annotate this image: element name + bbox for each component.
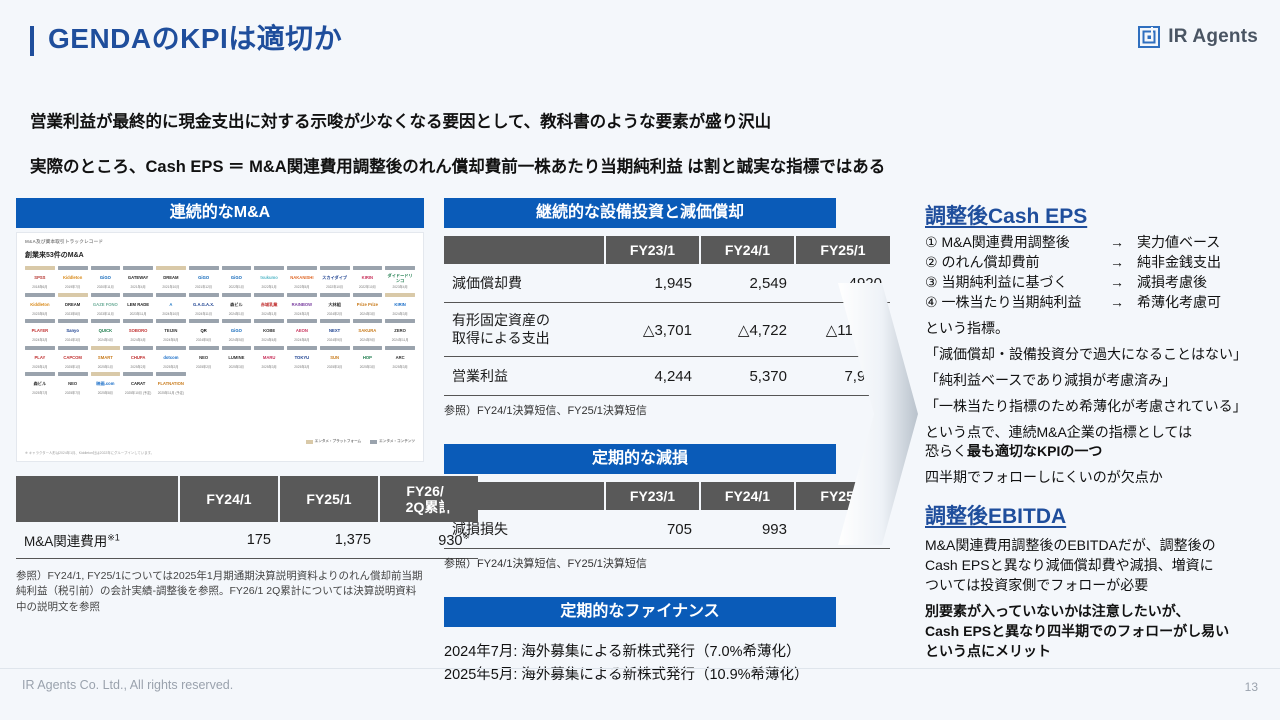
- ma-logo-tag: [25, 372, 55, 376]
- ma-logo-date: 2021年12月: [189, 286, 219, 290]
- ma-logo-cell: 赤城乳業2024年1月: [254, 293, 284, 317]
- ma-logo-date: 2025年7月: [25, 392, 55, 396]
- ma-logo-tag: [222, 319, 252, 323]
- ma-logo-cell: SUN2025年3月: [320, 346, 350, 370]
- legend-label-2: エンタメ・コンテンツ: [379, 439, 415, 444]
- ma-logo-cell: 映画.com2025年8月: [91, 372, 121, 396]
- ma-logo-cell: HOP2025年3月: [353, 346, 383, 370]
- ma-logo-cell: 大林組2024年2月: [320, 293, 350, 317]
- ma-logo-tag: [353, 266, 383, 270]
- ma-logo-cell: LUMINE2025年3月: [222, 346, 252, 370]
- ma-logo-cell: G.A.G.A.X.2024年11月: [189, 293, 219, 317]
- kpi-item-value: 純非金銭支出: [1137, 253, 1270, 273]
- ma-logo-date: 2024年5月: [189, 339, 219, 343]
- ma-logo-date: 2024年9月: [353, 339, 383, 343]
- ma-logo-mark: LEM RADE: [123, 299, 153, 312]
- ma-logo-date: 2024年5月: [222, 339, 252, 343]
- row-label: 減価償却費: [444, 264, 605, 303]
- ma-logo-date: 2025年11月 (予定): [156, 392, 186, 396]
- ma-logo-tag: [156, 266, 186, 270]
- ma-logo-mark: Prize Prize: [353, 299, 383, 312]
- ma-logo-cell: SAKURA2024年9月: [353, 319, 383, 343]
- ma-logo-tag: [123, 372, 153, 376]
- kpi-list-item: ① M&A関連費用調整後→実力値ベース: [925, 233, 1270, 253]
- ma-logo-date: 2019年7月: [58, 286, 88, 290]
- ma-logo-tag: [222, 346, 252, 350]
- ma-logo-date: 2022年5月: [287, 286, 317, 290]
- ma-logo-cell: FLATNATION2025年11月 (予定): [156, 372, 186, 396]
- ma-logo-cell: GATEWAY2021年4月: [123, 266, 153, 290]
- ma-logo-mark: PLAYER: [25, 325, 55, 338]
- ma-logo-date: 2024年11月: [189, 313, 219, 317]
- th-blank: [444, 236, 605, 264]
- row-label: 有形固定資産の 取得による支出: [444, 303, 605, 357]
- ma-logo-mark: QR: [189, 325, 219, 338]
- ma-logo-mark: CAPCOM: [58, 352, 88, 365]
- ma-logo-date: 2024年9月: [320, 339, 350, 343]
- ma-logo-mark: KIRIN: [353, 272, 383, 285]
- ma-logo-cell: tsukumo2022年1月: [254, 266, 284, 290]
- page-title: GENDAのKPIは適切か: [48, 20, 342, 58]
- ma-logo-cell: NEO2025年7月: [58, 372, 88, 396]
- ma-logo-tag: [189, 346, 219, 350]
- ma-logo-tag: [385, 319, 415, 323]
- ma-logo-tag: [58, 319, 88, 323]
- capex-source-note: 参照）FY24/1決算短信、FY25/1決算短信: [444, 402, 836, 418]
- ma-logo-date: 2025年1月: [91, 366, 121, 370]
- capex-section-banner: 継続的な設備投資と減価償却: [444, 198, 836, 228]
- ma-logo-tag: [353, 293, 383, 297]
- ma-logo-mark: CHUPA: [123, 352, 153, 365]
- impairment-section-banner: 定期的な減損: [444, 444, 836, 474]
- ma-logo-date: 2025年2月: [123, 366, 153, 370]
- ma-logo-date: 2024年5月: [156, 339, 186, 343]
- middle-column: 継続的な設備投資と減価償却 FY23/1 FY24/1 FY25/1 減価償却費…: [444, 198, 836, 686]
- ma-logo-mark: GiGO: [189, 272, 219, 285]
- capex-table: FY23/1 FY24/1 FY25/1 減価償却費 1,945 2,549 4…: [444, 236, 890, 396]
- ma-logo-date: 2024年11月: [385, 339, 415, 343]
- ma-logo-mark: SUN: [320, 352, 350, 365]
- ma-logo-tag: [320, 346, 350, 350]
- row-label: 営業利益: [444, 357, 605, 396]
- kpi-arrow-icon: →: [1097, 293, 1137, 313]
- ma-logo-tag: [320, 319, 350, 323]
- quote-1: 「減価償却・設備投資分で過大になることはない」: [925, 344, 1270, 365]
- ma-logo-mark: SMART: [91, 352, 121, 365]
- table-row: 有形固定資産の 取得による支出 △3,701 △4,722 △11,300: [444, 303, 890, 357]
- ma-logo-cell: ZERO2024年11月: [385, 319, 415, 343]
- ma-logo-date: 2021年4月: [123, 286, 153, 290]
- ma-logo-tag: [320, 293, 350, 297]
- ma-logo-date: 2023年11月: [91, 313, 121, 317]
- ebitda-p2-line1: 別要素が入っていないかは注意したいが、: [925, 602, 1270, 622]
- ma-logo-cell: KOBE2024年6月: [254, 319, 284, 343]
- row-value-fy23: △3,701: [605, 303, 700, 357]
- ma-logo-date: 2022年10月: [353, 286, 383, 290]
- ma-expense-table: FY24/1 FY25/1 FY26/1 2Q累計 M&A関連費用※1 175 …: [16, 476, 478, 559]
- th-fy25: FY25/1: [279, 476, 379, 522]
- ma-logo-cell: GiGO2024年5月: [222, 319, 252, 343]
- row-value-fy24: 175: [179, 522, 279, 559]
- kpi-item-label: ④ 一株当たり当期純利益: [925, 293, 1097, 313]
- ma-logo-mark: GiGO: [222, 325, 252, 338]
- ma-logo-tag: [287, 293, 317, 297]
- ma-logo-mark: SAKURA: [353, 325, 383, 338]
- ma-logo-date: 2023年11月: [123, 313, 153, 317]
- ebitda-p1-line3: ついては投資家側でフォローが必要: [925, 576, 1270, 596]
- ma-logo-tag: [123, 293, 153, 297]
- ma-logo-tag: [320, 266, 350, 270]
- ma-logo-date: 2024年3月: [25, 339, 55, 343]
- ma-logo-cell: PLAY2025年1月: [25, 346, 55, 370]
- ebitda-p1-line1: M&A関連費用調整後のEBITDAだが、調整後の: [925, 536, 1270, 556]
- drawback-line: 四半期でフォローしにくいのが欠点か: [925, 467, 1270, 488]
- ma-logo-tag: [25, 266, 55, 270]
- row-value-fy24: 993: [700, 510, 795, 549]
- ebitda-p1-line2: Cash EPSと異なり減価償却費や減損、増資に: [925, 556, 1270, 576]
- ma-logo-date: 2025年1月: [58, 366, 88, 370]
- ma-logo-date: 2024年3月: [58, 339, 88, 343]
- th-blank: [444, 482, 605, 510]
- ma-logo-date: 2024年6月: [254, 339, 284, 343]
- row-value-fy24: 2,549: [700, 264, 795, 303]
- ma-logo-date: 2025年8月: [91, 392, 121, 396]
- ma-logo-mark: AEON: [287, 325, 317, 338]
- slide-header: GENDAのKPIは適切か IR Agents: [0, 12, 1280, 60]
- th-fy24: FY24/1: [700, 482, 795, 510]
- ebitda-paragraph-2: 別要素が入っていないかは注意したいが、 Cash EPSと異なり四半期でのフォロ…: [925, 602, 1270, 662]
- ma-logo-mark: G.A.G.A.X.: [189, 299, 219, 312]
- ma-logo-tag: [91, 266, 121, 270]
- ma-logo-tag: [353, 346, 383, 350]
- ma-logo-cell: CHUPA2025年2月: [123, 346, 153, 370]
- ma-logo-cell: CARAT2025年10月 (予定): [123, 372, 153, 396]
- ma-logo-tag: [123, 266, 153, 270]
- ma-logo-date: 2024年8月: [287, 339, 317, 343]
- ma-logo-tag: [58, 293, 88, 297]
- ma-logo-mark: MARU: [254, 352, 284, 365]
- ma-logo-mark: CARAT: [123, 378, 153, 391]
- ma-logo-mark: SPSS: [25, 272, 55, 285]
- legend-item: エンタメ・プラットフォーム: [306, 439, 362, 444]
- ma-image-title: 創業来53件のM&A: [25, 250, 415, 260]
- ma-logo-mark: KIRIN: [385, 299, 415, 312]
- cash-eps-kpi-list: ① M&A関連費用調整後→実力値ベース② のれん償却費前→純非金銭支出③ 当期純…: [925, 233, 1270, 313]
- ma-logo-tag: [189, 293, 219, 297]
- ma-logo-mark: 赤城乳業: [254, 299, 284, 312]
- ma-logo-tag: [287, 319, 317, 323]
- table-row: 減損損失 705 993 615: [444, 510, 890, 549]
- ma-logo-date: 2022年1月: [222, 286, 252, 290]
- ma-logo-tag: [91, 372, 121, 376]
- ma-logo-date: 2024年2月: [287, 313, 317, 317]
- ma-logo-cell: GiGO2020年11月: [91, 266, 121, 290]
- row-value-fy23: 4,244: [605, 357, 700, 396]
- ma-logo-mark: Sanyo: [58, 325, 88, 338]
- finance-block: 定期的なファイナンス 2024年7月: 海外募集による新株式発行（7.0%希薄化…: [444, 597, 836, 686]
- ma-logo-date: 2024年2月: [320, 313, 350, 317]
- table-row: 減価償却費 1,945 2,549 4920: [444, 264, 890, 303]
- ma-logo-mark: GAZE FONO: [91, 299, 121, 312]
- ma-logo-tag: [287, 266, 317, 270]
- left-footnote: 参照）FY24/1, FY25/1については2025年1月期通期決算説明資料より…: [16, 569, 424, 615]
- row-value-fy23: 1,945: [605, 264, 700, 303]
- row-value-fy23: 705: [605, 510, 700, 549]
- ma-logo-mark: 森ビル: [25, 378, 55, 391]
- legend-label-1: エンタメ・プラットフォーム: [315, 439, 362, 444]
- ma-logo-cell: DREAM2023年8月: [58, 293, 88, 317]
- kpi-item-value: 希薄化考慮可: [1137, 293, 1270, 313]
- ma-logo-date: 2024年3月: [385, 313, 415, 317]
- ma-logo-cell: CAPCOM2025年1月: [58, 346, 88, 370]
- ma-logo-date: 2025年3月: [353, 366, 383, 370]
- ma-logo-mark: NEO: [189, 352, 219, 365]
- impairment-table: FY23/1 FY24/1 FY25/1 減損損失 705 993 615: [444, 482, 890, 549]
- row-value-fy24: 5,370: [700, 357, 795, 396]
- kpi-arrow-icon: →: [1097, 233, 1137, 253]
- ma-logo-cell: NAKANISHI2022年5月: [287, 266, 317, 290]
- ma-logo-tag: [123, 346, 153, 350]
- ma-logo-cell: 森ビル2025年7月: [25, 372, 55, 396]
- ma-logo-date: 2025年2月: [156, 366, 186, 370]
- ma-logo-tag: [58, 266, 88, 270]
- ma-logo-tag: [189, 319, 219, 323]
- ma-logo-date: 2024年4月: [91, 339, 121, 343]
- ma-logo-mark: ARC: [385, 352, 415, 365]
- ma-logo-mark: A: [156, 299, 186, 312]
- ma-track-record-image: M&A及び資本取引トラックレコード 創業来53件のM&A SPSS2018年6月…: [16, 232, 424, 462]
- lead-paragraph-2: 実際のところ、Cash EPS ＝ M&A関連費用調整後のれん償却費前一株あたり…: [30, 153, 885, 177]
- ma-logo-cell: GiGO2021年12月: [189, 266, 219, 290]
- ma-logo-cell: SPSS2018年6月: [25, 266, 55, 290]
- ma-logo-mark: DREAM: [156, 272, 186, 285]
- ma-logo-mark: NAKANISHI: [287, 272, 317, 285]
- ma-logo-cell: KIRIN2022年10月: [353, 266, 383, 290]
- th-fy23: FY23/1: [605, 482, 700, 510]
- ma-logo-date: 2022年10月: [320, 286, 350, 290]
- ma-logo-tag: [353, 319, 383, 323]
- ma-logo-tag: [58, 346, 88, 350]
- ma-logo-cell: AEON2024年8月: [287, 319, 317, 343]
- ma-logo-date: 2025年3月: [254, 366, 284, 370]
- ma-logo-tag: [156, 372, 186, 376]
- ma-logo-date: 2025年1月: [25, 366, 55, 370]
- ma-logo-cell: ARC2025年3月: [385, 346, 415, 370]
- ma-logo-grid: SPSS2018年6月Kiddleton2019年7月GiGO2020年11月G…: [25, 266, 415, 396]
- ma-logo-tag: [156, 346, 186, 350]
- ma-logo-mark: DREAM: [58, 299, 88, 312]
- ma-logo-mark: スカイダイブ: [320, 272, 350, 285]
- kpi-item-label: ② のれん償却費前: [925, 253, 1097, 273]
- ma-logo-tag: [385, 266, 415, 270]
- quote-3: 「一株当たり指標のため希薄化が考慮されている」: [925, 396, 1270, 417]
- kpi-item-value: 減損考慮後: [1137, 273, 1270, 293]
- ma-logo-tag: [25, 346, 55, 350]
- ma-logo-mark: TOKYU: [287, 352, 317, 365]
- ma-logo-date: 2025年7月: [58, 392, 88, 396]
- ma-logo-cell: GAZE FONO2023年11月: [91, 293, 121, 317]
- th-fy24: FY24/1: [700, 236, 795, 264]
- ma-logo-tag: [287, 346, 317, 350]
- ma-logo-mark: LUMINE: [222, 352, 252, 365]
- th-fy23: FY23/1: [605, 236, 700, 264]
- ma-logo-cell: LEM RADE2023年11月: [123, 293, 153, 317]
- th-blank: [16, 476, 179, 522]
- ma-logo-mark: dotcom: [156, 352, 186, 365]
- ma-logo-date: 2020年11月: [91, 286, 121, 290]
- ma-logo-date: 2024年4月: [123, 339, 153, 343]
- ma-logo-cell: KIRIN2024年3月: [385, 293, 415, 317]
- ma-logo-mark: 大林組: [320, 299, 350, 312]
- ma-logo-tag: [254, 293, 284, 297]
- ma-logo-tag: [25, 319, 55, 323]
- ma-logo-tag: [91, 346, 121, 350]
- right-column: 調整後Cash EPS ① M&A関連費用調整後→実力値ベース② のれん償却費前…: [925, 200, 1270, 662]
- footer-divider: [0, 668, 1280, 669]
- impairment-block: 定期的な減損 FY23/1 FY24/1 FY25/1 減損損失 705 993: [444, 444, 836, 571]
- ma-logo-date: 2025年3月: [385, 366, 415, 370]
- row-label: M&A関連費用※1: [16, 522, 179, 559]
- ma-logo-date: 2018年6月: [25, 286, 55, 290]
- ma-logo-mark: RAINBOW: [287, 299, 317, 312]
- ma-logo-tag: [123, 319, 153, 323]
- ma-logo-date: 2023年8月: [58, 313, 88, 317]
- brand-logo: IR Agents: [1138, 26, 1258, 48]
- ma-logo-cell: Kiddleton2019年7月: [58, 266, 88, 290]
- left-section-banner: 連続的なM&A: [16, 198, 424, 228]
- ma-logo-date: 2025年10月 (予定): [123, 392, 153, 396]
- ma-logo-tag: [91, 319, 121, 323]
- ma-logo-mark: PLAY: [25, 352, 55, 365]
- ma-logo-tag: [222, 293, 252, 297]
- ma-logo-date: 2023年5月: [25, 313, 55, 317]
- th-fy24: FY24/1: [179, 476, 279, 522]
- ma-logo-date: 2024年1月: [254, 313, 284, 317]
- ma-logo-cell: NEXT2024年9月: [320, 319, 350, 343]
- row-label: 減損損失: [444, 510, 605, 549]
- table-row: M&A関連費用※1 175 1,375 930※: [16, 522, 478, 559]
- right-chevron-arrow: [838, 283, 918, 545]
- ma-logo-date: 2023年4月: [385, 286, 415, 290]
- ma-logo-date: 2025年3月: [222, 366, 252, 370]
- finance-section-banner: 定期的なファイナンス: [444, 597, 836, 627]
- ma-logo-date: 2024年10月: [156, 313, 186, 317]
- ma-logo-tag: [254, 319, 284, 323]
- table-header-row: FY23/1 FY24/1 FY25/1: [444, 482, 890, 510]
- ma-logo-cell: dotcom2025年2月: [156, 346, 186, 370]
- ma-logo-date: 2025年2月: [189, 366, 219, 370]
- lead-paragraph-1: 営業利益が最終的に現金支出に対する示唆が少なくなる要因として、教科書のような要素…: [30, 108, 771, 132]
- finance-line-1: 2024年7月: 海外募集による新株式発行（7.0%希薄化）: [444, 641, 836, 663]
- brand-logo-text: IR Agents: [1168, 26, 1258, 48]
- kpi-list-item: ④ 一株当たり当期純利益→希薄化考慮可: [925, 293, 1270, 313]
- ma-logo-mark: FLATNATION: [156, 378, 186, 391]
- ma-logo-cell: スカイダイブ2022年10月: [320, 266, 350, 290]
- ma-logo-cell: QR2024年5月: [189, 319, 219, 343]
- ma-logo-tag: [91, 293, 121, 297]
- ma-image-legend: エンタメ・プラットフォーム エンタメ・コンテンツ: [306, 439, 415, 444]
- ma-logo-tag: [189, 266, 219, 270]
- ma-logo-mark: QUICK: [91, 325, 121, 338]
- conclusion-line-2: 恐らく最も適切なKPIの一つ: [925, 442, 1270, 462]
- finance-lines: 2024年7月: 海外募集による新株式発行（7.0%希薄化） 2025年5月: …: [444, 641, 836, 686]
- ma-logo-cell: RAINBOW2024年2月: [287, 293, 317, 317]
- ma-logo-mark: HOP: [353, 352, 383, 365]
- table-header-row: FY23/1 FY24/1 FY25/1: [444, 236, 890, 264]
- ma-logo-mark: TEIJIN: [156, 325, 186, 338]
- ma-logo-mark: 映画.com: [91, 378, 121, 391]
- ma-logo-tag: [58, 372, 88, 376]
- ma-logo-cell: SMART2025年1月: [91, 346, 121, 370]
- ma-logo-cell: ダイドードリンコ2023年4月: [385, 266, 415, 290]
- ma-logo-mark: Kiddleton: [25, 299, 55, 312]
- ma-logo-cell: GiGO2022年1月: [222, 266, 252, 290]
- ma-logo-date: 2025年3月: [320, 366, 350, 370]
- ma-logo-mark: NEXT: [320, 325, 350, 338]
- ma-logo-cell: 森ビル2024年1月: [222, 293, 252, 317]
- page-number: 13: [1245, 680, 1258, 694]
- cash-eps-heading: 調整後Cash EPS: [925, 200, 1270, 230]
- kpi-list-item: ③ 当期純利益に基づく→減損考慮後: [925, 273, 1270, 293]
- ma-logo-mark: GATEWAY: [123, 272, 153, 285]
- row-value-fy24: △4,722: [700, 303, 795, 357]
- ma-logo-tag: [25, 293, 55, 297]
- table-header-row: FY24/1 FY25/1 FY26/1 2Q累計: [16, 476, 478, 522]
- title-accent-bar: [30, 26, 34, 56]
- kpi-item-label: ③ 当期純利益に基づく: [925, 273, 1097, 293]
- ma-logo-tag: [254, 346, 284, 350]
- ma-logo-mark: GiGO: [91, 272, 121, 285]
- ma-logo-cell: Sanyo2024年3月: [58, 319, 88, 343]
- slide-root: GENDAのKPIは適切か IR Agents 営業利益が最終的に現金支出に対す…: [0, 0, 1280, 720]
- kpi-arrow-icon: →: [1097, 253, 1137, 273]
- row-value-fy25: 1,375: [279, 522, 379, 559]
- ma-logo-cell: Prize Prize2024年3月: [353, 293, 383, 317]
- ebitda-p2-line2: Cash EPSと異なり四半期でのフォローがし易い: [925, 622, 1270, 642]
- ma-logo-date: 2024年3月: [353, 313, 383, 317]
- ma-logo-tag: [254, 266, 284, 270]
- th-fy25: FY25/1: [795, 236, 890, 264]
- ma-logo-cell: TOKYU2025年3月: [287, 346, 317, 370]
- ma-logo-cell: PLAYER2024年3月: [25, 319, 55, 343]
- ma-logo-cell: QUICK2024年4月: [91, 319, 121, 343]
- ma-logo-mark: 森ビル: [222, 299, 252, 312]
- legend-item: エンタメ・コンテンツ: [370, 439, 415, 444]
- indicator-line: という指標。: [925, 318, 1270, 339]
- ma-logo-cell: DREAM2021年10月: [156, 266, 186, 290]
- ma-logo-cell: SOBORO2024年4月: [123, 319, 153, 343]
- conclusion-block: という点で、連続M&A企業の指標としては 恐らく最も適切なKPIの一つ: [925, 423, 1270, 463]
- ma-logo-cell: Kiddleton2023年5月: [25, 293, 55, 317]
- ma-logo-date: 2021年10月: [156, 286, 186, 290]
- ma-logo-cell: TEIJIN2024年5月: [156, 319, 186, 343]
- ma-image-note: ※ キャラクター人形は2024年1月、Kiddleton社は2022年にグループ…: [25, 450, 154, 455]
- ma-logo-mark: KOBE: [254, 325, 284, 338]
- ma-logo-mark: ダイドードリンコ: [385, 272, 415, 285]
- ma-logo-cell: MARU2025年3月: [254, 346, 284, 370]
- ma-logo-date: 2024年1月: [222, 313, 252, 317]
- quote-2: 「純利益ベースであり減損が考慮済み」: [925, 370, 1270, 391]
- ma-image-kicker: M&A及び資本取引トラックレコード: [25, 239, 415, 245]
- ma-logo-tag: [385, 346, 415, 350]
- ebitda-heading: 調整後EBITDA: [925, 500, 1270, 530]
- row-label-sup: ※1: [107, 533, 120, 543]
- kpi-item-label: ① M&A関連費用調整後: [925, 233, 1097, 253]
- ma-logo-mark: NEO: [58, 378, 88, 391]
- conclusion-line-1: という点で、連続M&A企業の指標としては: [925, 423, 1270, 443]
- ma-logo-date: 2025年3月: [287, 366, 317, 370]
- ma-logo-tag: [385, 293, 415, 297]
